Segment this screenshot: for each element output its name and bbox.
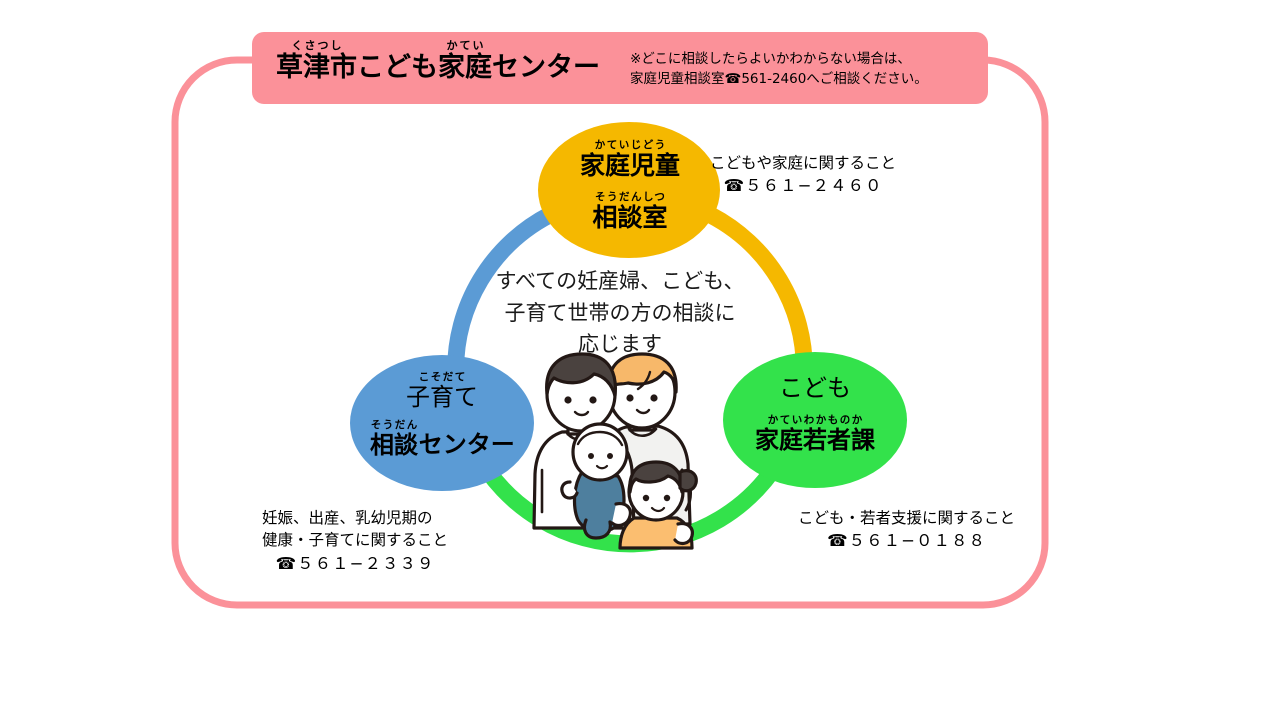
baby-eye-left — [588, 453, 594, 459]
node-label-yellow-base1: 家庭児童 — [580, 152, 680, 180]
node-label-blue-base2: 相談 — [370, 432, 418, 458]
caption-blue-tel: ☎５６１−２３３９ — [262, 552, 448, 576]
node-label-green-base2: 家庭若者課 — [755, 427, 875, 453]
title-part-center: センター — [492, 53, 600, 83]
header-note: ※どこに相談したらよいかわからない場合は、 家庭児童相談室☎561-2460へご… — [630, 50, 928, 89]
title-base-katei: 家庭 — [438, 53, 492, 83]
node-label-yellow-line2: そうだんしつ 相談室 — [540, 192, 720, 232]
page-title: くさつし 草津市 こども かてい 家庭 センター — [276, 40, 600, 83]
child-ponytail — [680, 471, 696, 491]
father-eye-left — [564, 396, 571, 403]
node-label-yellow-line1: かていじどう 家庭児童 — [540, 140, 720, 180]
node-label-blue-line1: こそだて 子育て — [350, 372, 534, 410]
caption-green-line1: こども・若者支援に関すること — [798, 507, 1015, 529]
father-eye-right — [589, 396, 596, 403]
caption-yellow: こどもや家庭に関すること ☎５６１−２４６０ — [710, 152, 896, 198]
center-statement: すべての妊産婦、こども、 子育て世帯の方の相談に 応じます — [440, 266, 800, 361]
mother-hand — [675, 524, 692, 544]
title-base-kusatsushi: 草津市 — [276, 53, 357, 83]
caption-blue-line1: 妊娠、出産、乳幼児期の — [262, 507, 448, 529]
title-part-kusatsushi: くさつし 草津市 — [276, 40, 357, 83]
caption-blue: 妊娠、出産、乳幼児期の 健康・子育てに関すること ☎５６１−２３３９ — [262, 507, 448, 576]
node-label-green-line2: かていわかものか 家庭若者課 — [722, 415, 908, 453]
node-label-yellow: かていじどう 家庭児童 そうだんしつ 相談室 — [540, 140, 720, 231]
center-line-2: 子育て世帯の方の相談に — [440, 298, 800, 330]
caption-green-tel: ☎５６１−０１８８ — [798, 529, 1015, 553]
baby-leg — [584, 520, 610, 538]
caption-blue-line2: 健康・子育てに関すること — [262, 529, 448, 551]
poster-canvas: くさつし 草津市 こども かてい 家庭 センター ※どこに相談したらよいかわから… — [0, 0, 1280, 720]
header-banner: くさつし 草津市 こども かてい 家庭 センター ※どこに相談したらよいかわから… — [252, 32, 988, 104]
node-label-green: こども かていわかものか 家庭若者課 — [722, 368, 908, 453]
title-part-katei: かてい 家庭 — [438, 40, 492, 83]
center-line-3: 応じます — [440, 329, 800, 361]
mother-eye-right — [650, 394, 657, 401]
node-label-blue-base1: 子育て — [406, 384, 478, 410]
center-line-1: すべての妊産婦、こども、 — [440, 266, 800, 298]
node-label-blue: こそだて 子育て そうだん 相談 センター — [350, 372, 534, 459]
node-label-blue-line2: そうだん 相談 センター — [350, 420, 534, 458]
furigana-soudanshitsu: そうだんしつ — [594, 192, 667, 204]
node-label-yellow-base2: 相談室 — [592, 204, 667, 232]
title-part-kodomo: こども — [357, 53, 438, 83]
node-label-blue-tail: センター — [419, 431, 515, 459]
caption-green: こども・若者支援に関すること ☎５６１−０１８８ — [798, 507, 1015, 553]
header-note-line2: 家庭児童相談室☎561-2460へご相談ください。 — [630, 70, 928, 90]
baby-eye-right — [607, 453, 613, 459]
header-note-line1: ※どこに相談したらよいかわからない場合は、 — [630, 50, 928, 70]
node-label-green-line1: こども — [722, 368, 908, 403]
caption-yellow-line1: こどもや家庭に関すること — [710, 152, 896, 174]
caption-yellow-tel: ☎５６１−２４６０ — [710, 174, 896, 198]
mother-eye-left — [626, 394, 633, 401]
child-eye-right — [664, 495, 670, 501]
child-eye-left — [643, 495, 649, 501]
